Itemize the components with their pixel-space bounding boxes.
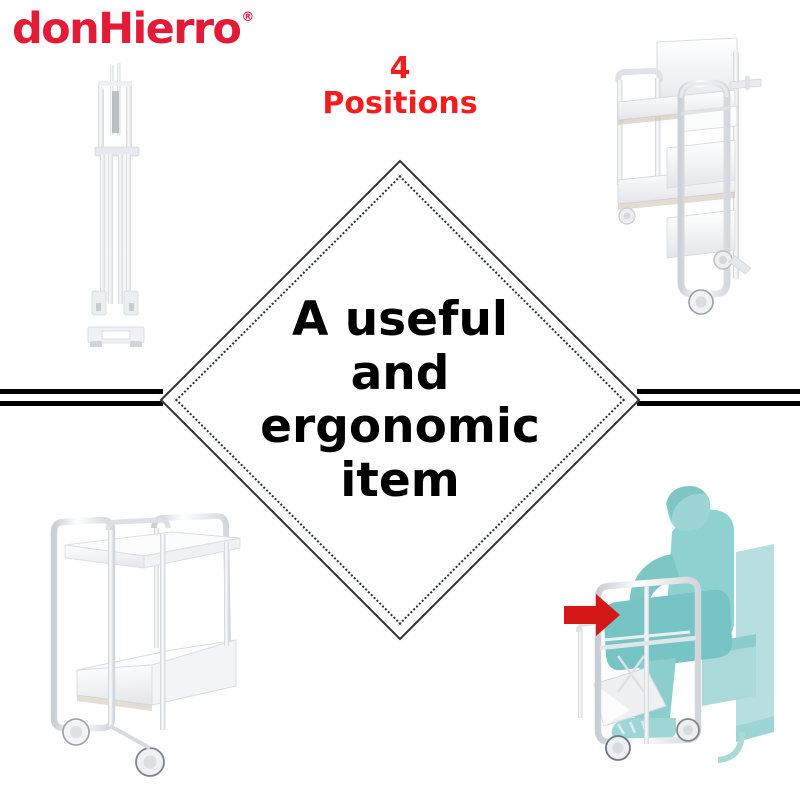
- diamond-caption-line-1: A useful: [190, 293, 610, 347]
- product-photo-open-trolley: [32, 490, 252, 785]
- diamond-caption: A useful and ergonomic item: [190, 293, 610, 507]
- rule-bar: [0, 401, 163, 406]
- brand-name: donHierro: [12, 8, 240, 51]
- promo-graphic: donHierro ® 4 Positions A useful and erg…: [0, 0, 800, 800]
- diamond-caption-line-2: and: [190, 346, 610, 400]
- left-rule-decoration: [0, 389, 163, 411]
- right-rule-decoration: [637, 389, 800, 411]
- product-photo-semi-folded-trolley: [585, 28, 790, 358]
- headline-line-1: 4: [250, 52, 550, 87]
- brand-logo: donHierro ®: [12, 8, 254, 51]
- diamond-caption-line-3: ergonomic: [190, 400, 610, 454]
- headline: 4 Positions: [250, 52, 550, 122]
- rule-bar: [637, 401, 800, 406]
- rule-bar: [0, 389, 163, 394]
- diamond-caption-line-4: item: [190, 454, 610, 508]
- product-photo-folded-trolley: [62, 55, 172, 355]
- rule-bar: [637, 389, 800, 394]
- headline-line-2: Positions: [250, 87, 550, 122]
- registered-trademark-icon: ®: [241, 11, 254, 24]
- product-photo-in-use-scene: [560, 480, 800, 790]
